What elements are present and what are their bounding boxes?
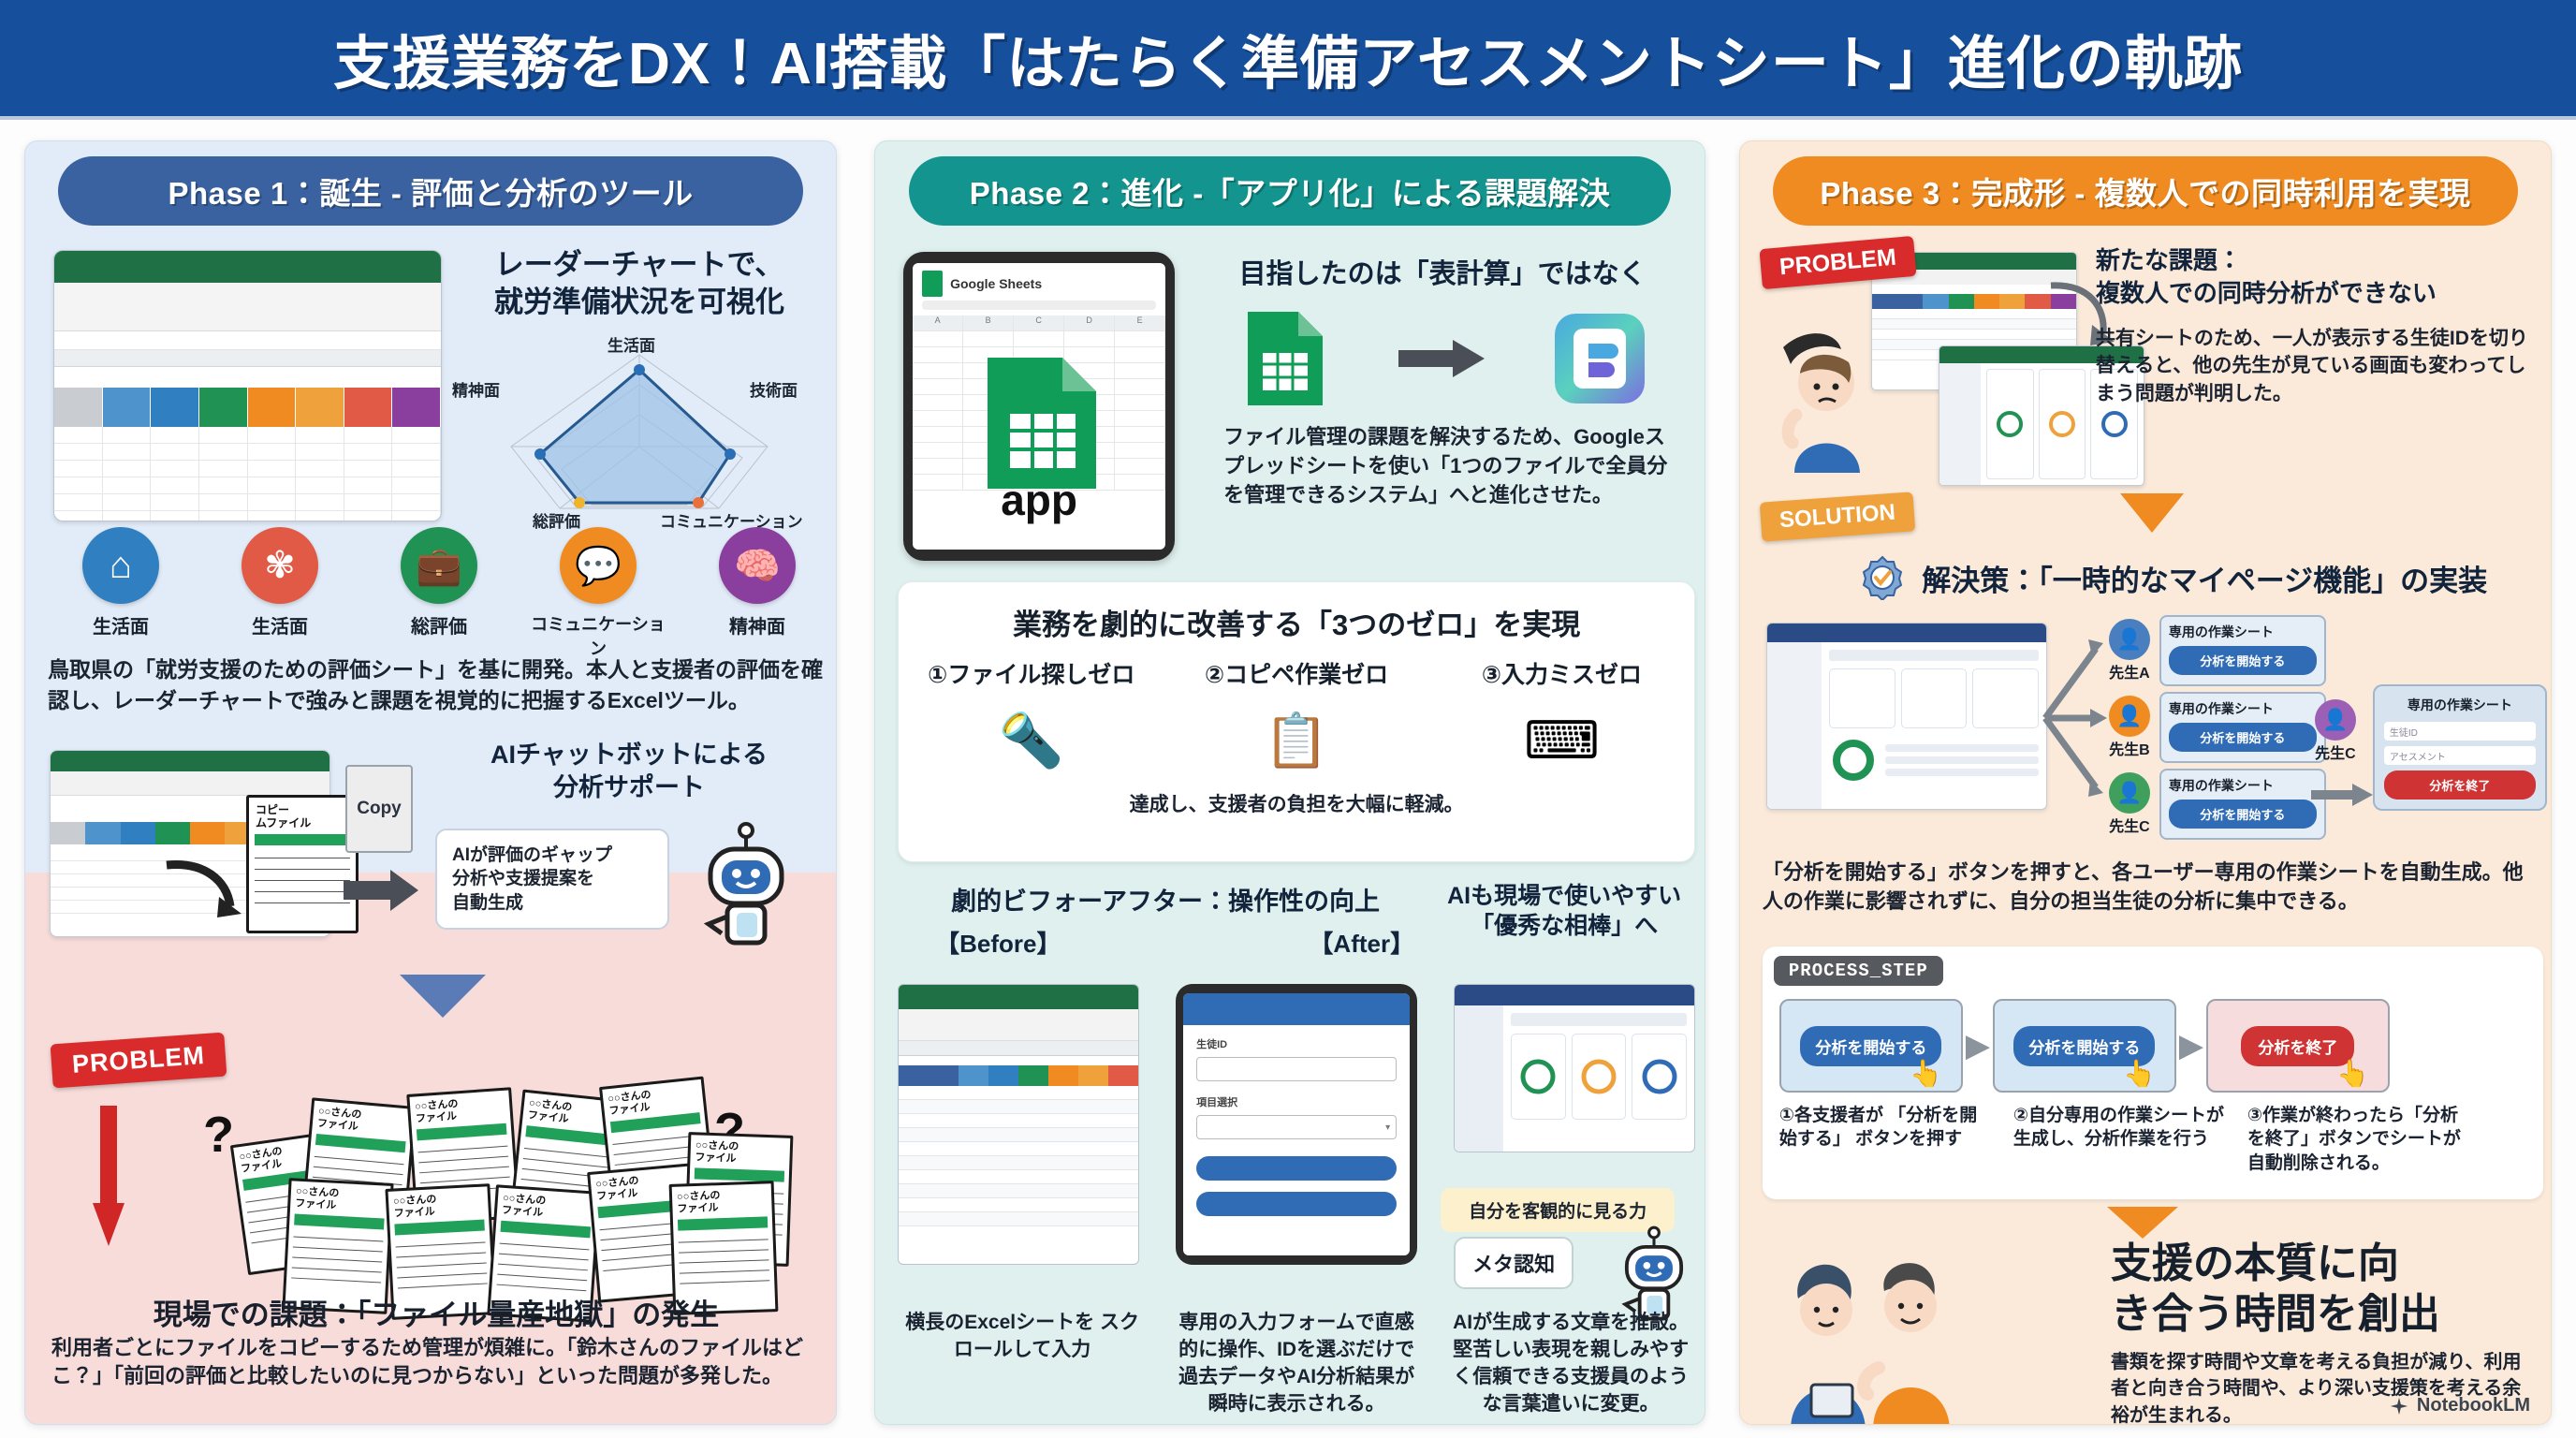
- assessment-icon-row: ⌂ 生活面 ✾ 生活面 💼 総評価 💬 コミュニケーション: [46, 527, 832, 660]
- ai-support-caption: AIチャットボットによる 分析サポート: [428, 739, 830, 804]
- phase-1-description: 鳥取県の「就労支援のための評価シート」を基に開発。本人と支援者の評価を確認し、レ…: [48, 654, 828, 715]
- worksheet-title-c: 専用の作業シート: [2169, 776, 2317, 795]
- process-box-2: 分析を開始する 👆: [1993, 999, 2176, 1093]
- before-after-heading: 劇的ビフォーアフター：操作性の向上 【Before】 【After】: [898, 881, 1433, 960]
- radar-label-0: 生活面: [607, 332, 655, 356]
- worksheet-title-b: 専用の作業シート: [2169, 699, 2317, 718]
- before-after-captions: 横長のExcelシートを スクロールして入力 専用の入力フォームで直感的に操作、…: [898, 1310, 1695, 1418]
- zero-item-1: ②コピペ作業ゼロ 📋: [1170, 656, 1423, 785]
- avatar-teacher-b: 👤: [2109, 696, 2150, 737]
- speech-bubbles-icon: 💬: [560, 527, 637, 604]
- right-arrow-icon: [344, 870, 418, 911]
- process-caption-2: ②自分専用の作業シートが生成し、分析作業を行う: [2013, 1104, 2227, 1175]
- excel-screenshot: [53, 250, 442, 521]
- icon-label-3: コミュニケーション: [523, 611, 673, 660]
- icon-label-4: 精神面: [682, 611, 832, 638]
- phase-3-panel: Phase 3：完成形 - 複数人での同時利用を実現 PROBLEM: [1739, 140, 2552, 1425]
- process-caption-1: ①各支援者が 「分析を開始する」 ボタンを押す: [1779, 1104, 1993, 1175]
- tablet-mockup: Google Sheets ABCDE: [903, 252, 1175, 561]
- worksheet-card-a: 専用の作業シート 分析を開始する: [2159, 615, 2326, 686]
- transform-logos: [1242, 302, 1645, 415]
- excel-formula-bar: [54, 331, 441, 350]
- troubled-person-illustration: [1774, 325, 1886, 479]
- google-sheets-name: Google Sheets: [950, 276, 1042, 291]
- before-label: 【Before】: [935, 925, 1061, 960]
- phase-1-problem-body: 利用者ごとにファイルをコピーするため管理が煩雑に。「鈴木さんのファイルはどこ？」…: [51, 1334, 823, 1391]
- process-caption-3: ③作業が終わったら「分析を終了」ボタンでシートが自動削除される。: [2247, 1104, 2461, 1175]
- three-zeros-footer: 達成し、支援者の負担を大幅に軽減。: [899, 789, 1694, 817]
- after-screen: 生徒ID 項目選択 ▾: [1176, 984, 1417, 1293]
- mypage-diagram: 👤 先生A 専用の作業シート 分析を開始する 👤 先生B: [1761, 609, 2552, 844]
- end-analysis-button[interactable]: 分析を終了: [2384, 770, 2536, 800]
- process-step-tag: PROCESS_STEP: [1774, 956, 1943, 986]
- notebooklm-footer: NotebookLM: [2389, 1395, 2530, 1416]
- goal-caption: 目指したのは「表計算」ではなく: [1203, 252, 1682, 291]
- file-pile: ? ? ○○さんのファイル ○○さんのファイル ○○さんのファイル ○○さんのフ…: [166, 1078, 821, 1293]
- branch-arrows: [2042, 626, 2107, 810]
- title-banner: 支援業務をDX！AI搭載「はたらく準備アセスメントシート」進化の軌跡: [0, 0, 2576, 120]
- central-dashboard: [1766, 623, 2047, 810]
- caption-ai: AIが生成する文章を推敲。堅苦しい表現を親しみやすく信頼できる支援員のような言葉…: [1446, 1310, 1695, 1418]
- radar-label-1: 技術面: [750, 377, 798, 401]
- ai-support-block: コピームファイル Copy: [44, 739, 832, 963]
- teacher-name-a: 先生A: [2109, 660, 2150, 682]
- phase-3-column: Phase 3：完成形 - 複数人での同時利用を実現 PROBLEM: [1739, 140, 2552, 1429]
- teacher-name-c: 先生C: [2109, 814, 2150, 836]
- excel-wide-sheet: [898, 984, 1139, 1265]
- excel-column-headers: [54, 350, 441, 367]
- final-heading: 支援の本質に向 き合う時間を創出: [2111, 1239, 2523, 1339]
- assessment-icon-1: ✾ 生活面: [205, 527, 355, 638]
- start-analysis-button-a[interactable]: 分析を開始する: [2169, 646, 2317, 675]
- teacher-row-a: 👤 先生A 専用の作業シート 分析を開始する: [2109, 615, 2326, 686]
- red-down-arrow-icon: [93, 1106, 124, 1246]
- tablet-screen: Google Sheets ABCDE: [913, 263, 1165, 550]
- teacher-row-b: 👤 先生B 専用の作業シート 分析を開始する: [2109, 692, 2326, 763]
- phase-1-panel: Phase 1：誕生 - 評価と分析のツール: [24, 140, 837, 1425]
- curved-arrow-icon: [161, 856, 241, 921]
- meta-bubble: メタ認知: [1454, 1237, 1573, 1289]
- phase-2-panel: Phase 2：進化 -「アプリ化」による課題解決 Google Sheets …: [874, 140, 1705, 1425]
- teacher-name-b: 先生B: [2109, 737, 2150, 759]
- mypage-owner-name: 先生C: [2315, 741, 2356, 763]
- form-screen: 生徒ID 項目選択 ▾: [1183, 993, 1410, 1255]
- arrow-right-icon: [1398, 340, 1485, 377]
- three-zeros-row: ①ファイル探しゼロ 🔦 ②コピペ作業ゼロ 📋 ③入力ミスゼロ ⌨: [899, 656, 1694, 785]
- app-word-label: app: [913, 475, 1165, 525]
- three-zeros-card: 業務を劇的に改善する「3つのゼロ」を実現 ①ファイル探しゼロ 🔦 ②コピペ作業ゼ…: [898, 581, 1695, 862]
- pointer-hand-icon: 👆: [2123, 1058, 2156, 1089]
- phase-1-problem-heading: 現場での課題：「ファイル量産地獄」の発生: [48, 1291, 825, 1333]
- pointer-hand-icon: 👆: [1910, 1058, 1942, 1089]
- icon-label-2: 総評価: [364, 611, 514, 638]
- radar-chart: 生活面 技術面 コミュニケーション 総評価 精神面: [465, 334, 813, 527]
- solution-body: 「分析を開始する」ボタンを押すと、各ユーザー専用の作業シートを自動生成。他人の作…: [1763, 858, 2543, 917]
- zero-item-2: ③入力ミスゼロ ⌨: [1435, 656, 1688, 785]
- phase-2-header: Phase 2：進化 -「アプリ化」による課題解決: [909, 156, 1672, 226]
- page-title: 支援業務をDX！AI搭載「はたらく準備アセスメントシート」進化の軌跡: [333, 16, 2243, 100]
- person-icon: [1774, 325, 1886, 475]
- zero-label-1: ②コピペ作業ゼロ: [1170, 656, 1423, 690]
- start-analysis-button-b[interactable]: 分析を開始する: [2169, 723, 2317, 752]
- phase-columns: Phase 1：誕生 - 評価と分析のツール: [0, 124, 2576, 1438]
- icon-label-1: 生活面: [205, 611, 355, 638]
- process-step-captions: ①各支援者が 「分析を開始する」 ボタンを押す ②自分専用の作業シートが生成し、…: [1779, 1104, 2526, 1175]
- chevron-right-icon: ▶: [1963, 1027, 1993, 1064]
- mypage-field-2[interactable]: アセスメント: [2384, 746, 2536, 765]
- process-step-row: 分析を開始する 👆 ▶ 分析を開始する 👆 ▶ 分析を終了 👆: [1779, 999, 2526, 1093]
- orange-down-arrow: [2120, 493, 2184, 533]
- infographic-page: 支援業務をDX！AI搭載「はたらく準備アセスメントシート」進化の軌跡 Phase…: [0, 0, 2576, 1438]
- clipboard-icon: 📋: [1170, 696, 1423, 785]
- zero-label-2: ③入力ミスゼロ: [1435, 656, 1688, 690]
- sheets-doc-icon: [969, 352, 1109, 492]
- google-sheets-icon: [922, 271, 943, 297]
- excel-ribbon: [54, 283, 441, 331]
- before-after-headings: 劇的ビフォーアフター：操作性の向上 【Before】 【After】 AIも現場…: [898, 881, 1695, 960]
- assessment-icon-3: 💬 コミュニケーション: [523, 527, 673, 660]
- radar-chart-svg: [465, 334, 813, 527]
- mypage-owner: 👤 先生C: [2315, 699, 2356, 763]
- google-sheets-bar: Google Sheets: [913, 263, 1165, 301]
- pointer-hand-icon: 👆: [2336, 1058, 2369, 1089]
- mypage-panel: 専用の作業シート 生徒ID アセスメント 分析を終了: [2373, 684, 2547, 811]
- ai-speech-bubble: AIが評価のギャップ分析や支援提案を自動生成: [435, 829, 669, 930]
- copied-file-card: コピームファイル: [246, 795, 359, 933]
- worksheet-title-a: 専用の作業シート: [2169, 623, 2317, 641]
- excel-data-grid: [54, 427, 441, 521]
- assessment-icon-4: 🧠 精神面: [682, 527, 832, 638]
- excel-titlebar: [54, 251, 441, 283]
- before-screen: [898, 984, 1139, 1293]
- chevron-right-icon: ▶: [2176, 1027, 2206, 1064]
- radar-label-4: 精神面: [452, 377, 500, 401]
- worksheet-card-c: 専用の作業シート 分析を開始する: [2159, 769, 2326, 840]
- zero-label-0: ①ファイル探しゼロ: [905, 656, 1158, 690]
- phase-3-down-arrow: [2107, 1207, 2178, 1239]
- support-staff-illustration: [1774, 1244, 1952, 1425]
- spreadsheet-icon: [1242, 310, 1328, 407]
- phase1-down-arrow: [400, 975, 486, 1018]
- process-box-1: 分析を開始する 👆: [1779, 999, 1963, 1093]
- notebooklm-icon: [2389, 1396, 2409, 1416]
- worksheet-card-b: 専用の作業シート 分析を開始する: [2159, 692, 2326, 763]
- caption-before: 横長のExcelシートを スクロールして入力: [898, 1310, 1147, 1418]
- arrow-to-mypage: [2311, 784, 2373, 806]
- three-zeros-heading: 業務を劇的に改善する「3つのゼロ」を実現: [899, 601, 1694, 643]
- caption-after: 専用の入力フォームで直感的に操作、IDを選ぶだけで過去データやAI分析結果が瞬時…: [1172, 1310, 1421, 1418]
- phase-1-top-row: レーダーチャートで、 就労準備状況を可視化: [42, 244, 832, 525]
- mypage-field-1[interactable]: 生徒ID: [2384, 722, 2536, 741]
- flashlight-icon: 🔦: [905, 696, 1158, 785]
- teacher-row-c: 👤 先生C 専用の作業シート 分析を開始する: [2109, 769, 2326, 840]
- phase-3-header: Phase 3：完成形 - 複数人での同時利用を実現: [1773, 156, 2519, 226]
- phase-3-problem-body: 共有シートのため、一人が表示する生徒IDを切り替えると、他の先生が見ている画面も…: [2096, 325, 2545, 407]
- appsheet-icon: [1555, 314, 1645, 404]
- radar-caption: レーダーチャートで、 就労準備状況を可視化: [450, 246, 828, 320]
- process-step-card: PROCESS_STEP 分析を開始する 👆 ▶ 分析を開始する 👆 ▶: [1763, 946, 2543, 1199]
- solution-heading: 解決策：「一時的なマイページ機能」の実装: [1804, 555, 2543, 600]
- copy-file-icon: Copy: [345, 765, 413, 853]
- form-tablet: 生徒ID 項目選択 ▾: [1176, 984, 1417, 1265]
- house-icon: ⌂: [82, 527, 159, 604]
- mypage-title: 専用の作業シート: [2384, 696, 2536, 714]
- hand-flower-icon: ✾: [241, 527, 318, 604]
- ai-robot-illustration: [690, 819, 802, 950]
- phase-2-column: Phase 2：進化 -「アプリ化」による課題解決 Google Sheets …: [874, 140, 1705, 1429]
- zero-item-0: ①ファイル探しゼロ 🔦: [905, 656, 1158, 785]
- process-box-3: 分析を終了 👆: [2206, 999, 2390, 1093]
- notebooklm-label: NotebookLM: [2417, 1395, 2530, 1416]
- briefcase-icon: 💼: [401, 527, 477, 604]
- after-label: 【After】: [1309, 925, 1414, 960]
- phase-1-column: Phase 1：誕生 - 評価と分析のツール: [24, 140, 837, 1429]
- ai-partner-heading: AIも現場で使いやすい 「優秀な相棒」へ: [1433, 881, 1695, 960]
- keyboard-icon: ⌨: [1435, 696, 1688, 785]
- brain-icon: 🧠: [719, 527, 796, 604]
- goal-body: ファイル管理の課題を解決するため、Googleスプレッドシートを使い「1つのファ…: [1223, 422, 1673, 510]
- ai-dashboard: [1454, 984, 1695, 1152]
- avatar-teacher-a: 👤: [2109, 619, 2150, 660]
- avatar-mypage-owner: 👤: [2315, 699, 2356, 741]
- phase-1-header: Phase 1：誕生 - 評価と分析のツール: [58, 156, 804, 226]
- icon-label-0: 生活面: [46, 611, 196, 638]
- gear-check-icon: [1860, 555, 1905, 600]
- start-analysis-button-c[interactable]: 分析を開始する: [2169, 800, 2317, 829]
- avatar-teacher-c: 👤: [2109, 772, 2150, 814]
- assessment-icon-2: 💼 総評価: [364, 527, 514, 638]
- phase-3-problem-heading: 新たな課題： 複数人での同時分析ができない: [2096, 244, 2545, 310]
- solution-badge: SOLUTION: [1760, 492, 1916, 541]
- assessment-icon-0: ⌂ 生活面: [46, 527, 196, 638]
- excel-header-row: [54, 388, 441, 427]
- two-people-icon: [1774, 1244, 1952, 1425]
- robot-icon: [690, 819, 802, 950]
- before-after-screens: 生徒ID 項目選択 ▾: [898, 984, 1695, 1293]
- question-mark-left: ?: [203, 1106, 234, 1164]
